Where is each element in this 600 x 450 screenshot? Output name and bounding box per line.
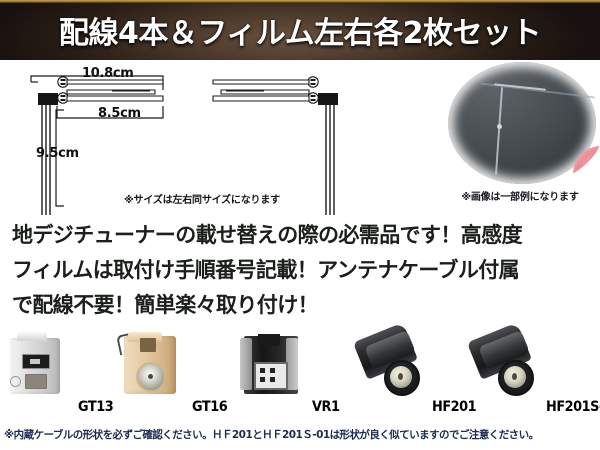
connector-type-list: GT13 GT16 bbox=[0, 330, 600, 418]
connector-label-hf201: HF201 bbox=[432, 399, 476, 415]
product-banner: 配線4本＆フィルム左右各2枚セット bbox=[0, 0, 600, 450]
film-antenna-vertical-element bbox=[495, 87, 503, 175]
photo-note: ※画像は一部例になります bbox=[440, 188, 600, 203]
glass-edge-line bbox=[458, 79, 600, 102]
product-photo-panel: 10 ※画像は一部例になります bbox=[440, 60, 600, 215]
dimension-label-height-left: 9.5cm bbox=[36, 146, 79, 161]
connector-vr1-icon bbox=[240, 332, 310, 396]
photo-inner-clip: 10 bbox=[458, 68, 600, 184]
description-block: 地デジチューナーの載せ替えの際の必需品です！高感度 フィルムは取付け手順番号記載… bbox=[0, 216, 600, 330]
connector-label-gt16: GT16 bbox=[192, 399, 227, 415]
connector-label-vr1: VR1 bbox=[312, 399, 339, 415]
sticker-number: 10 bbox=[582, 156, 600, 178]
size-note: ※サイズは左右同サイズになります bbox=[124, 191, 280, 206]
description-line-3: で配線不要！簡単楽々取り付け！ bbox=[12, 288, 588, 323]
photo-image: 10 bbox=[448, 62, 596, 184]
connector-item-gt16: GT16 bbox=[118, 330, 238, 418]
red-inspection-sticker: 10 bbox=[573, 146, 600, 184]
connector-label-hf201s01: HF201S-01 bbox=[546, 399, 600, 415]
connector-label-gt13: GT13 bbox=[78, 399, 113, 415]
page-title: 配線4本＆フィルム左右各2枚セット bbox=[0, 0, 600, 60]
connector-item-gt13: GT13 bbox=[4, 330, 124, 418]
dimension-label-width-bottom: 8.5cm bbox=[98, 106, 141, 121]
connector-item-hf201s01: HF201S-01 bbox=[474, 330, 594, 418]
connector-hf201s01-icon bbox=[474, 332, 544, 396]
description-line-1: 地デジチューナーの載せ替えの際の必需品です！高感度 bbox=[12, 218, 588, 253]
antenna-diagram: 10.8cm 8.5cm 9.5cm ※サイズは左右同サイズになります bbox=[0, 60, 440, 215]
description-line-2: フィルムは取付け手順番号記載！アンテナケーブル付属 bbox=[12, 253, 588, 288]
connector-gt13-icon bbox=[4, 332, 74, 396]
dimension-label-width-top: 10.8cm bbox=[82, 66, 134, 81]
connector-hf201-icon bbox=[360, 332, 430, 396]
header-banner: 配線4本＆フィルム左右各2枚セット bbox=[0, 0, 600, 60]
connector-item-vr1: VR1 bbox=[240, 330, 360, 418]
film-antenna-feed-dot bbox=[497, 124, 502, 129]
connector-item-hf201: HF201 bbox=[360, 330, 480, 418]
footer-caution-note: ※内蔵ケーブルの形状を必ずご確認ください。ＨＦ201とＨＦ201Ｓ-01は形状が… bbox=[0, 424, 600, 450]
connector-gt16-icon bbox=[118, 332, 188, 396]
